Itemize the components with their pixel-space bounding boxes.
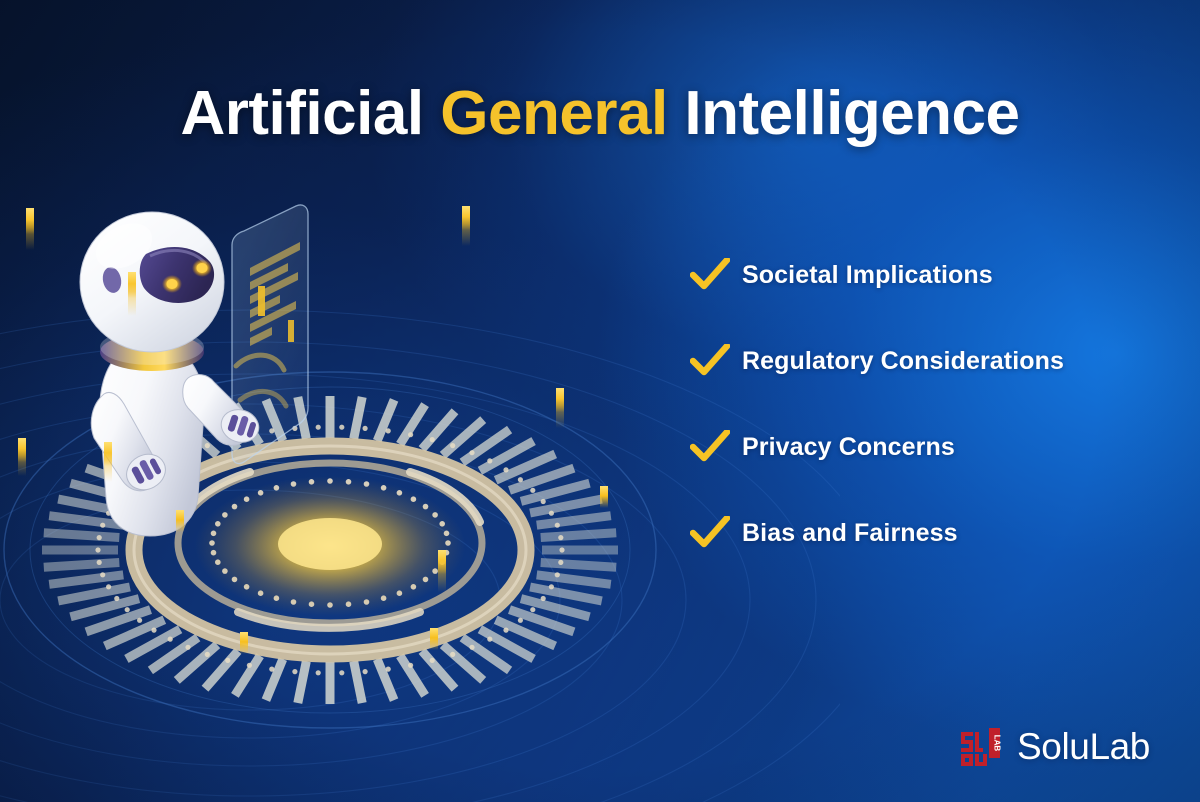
- page-title: Artificial General Intelligence: [0, 78, 1200, 149]
- list-item: Bias and Fairness: [690, 505, 1170, 561]
- list-item-label: Privacy Concerns: [742, 433, 955, 462]
- list-item: Privacy Concerns: [690, 419, 1170, 475]
- check-icon: [690, 430, 742, 464]
- robot-head: [80, 212, 224, 352]
- list-item-label: Societal Implications: [742, 261, 993, 290]
- list-item-label: Bias and Fairness: [742, 519, 958, 548]
- brand-name: SoluLab: [1017, 728, 1150, 765]
- list-item: Societal Implications: [690, 247, 1170, 303]
- check-icon: [690, 344, 742, 378]
- illustration-svg: [0, 150, 680, 790]
- list-item: Regulatory Considerations: [690, 333, 1170, 389]
- title-part-2: Intelligence: [668, 79, 1020, 148]
- solulab-pixel-logo-icon: LAB: [960, 726, 1004, 766]
- title-part-1: Artificial: [180, 79, 440, 148]
- check-icon: [690, 258, 742, 292]
- infographic-canvas: Artificial General Intelligence Societal…: [0, 0, 1200, 802]
- check-icon: [690, 516, 742, 550]
- list-item-label: Regulatory Considerations: [742, 347, 1064, 376]
- logo-mark-label: LAB: [993, 735, 1002, 752]
- robot-illustration: [0, 150, 680, 790]
- checklist: Societal Implications Regulatory Conside…: [690, 247, 1170, 561]
- brand-logo: LAB SoluLab: [960, 726, 1150, 766]
- title-accent-word: General: [440, 79, 667, 148]
